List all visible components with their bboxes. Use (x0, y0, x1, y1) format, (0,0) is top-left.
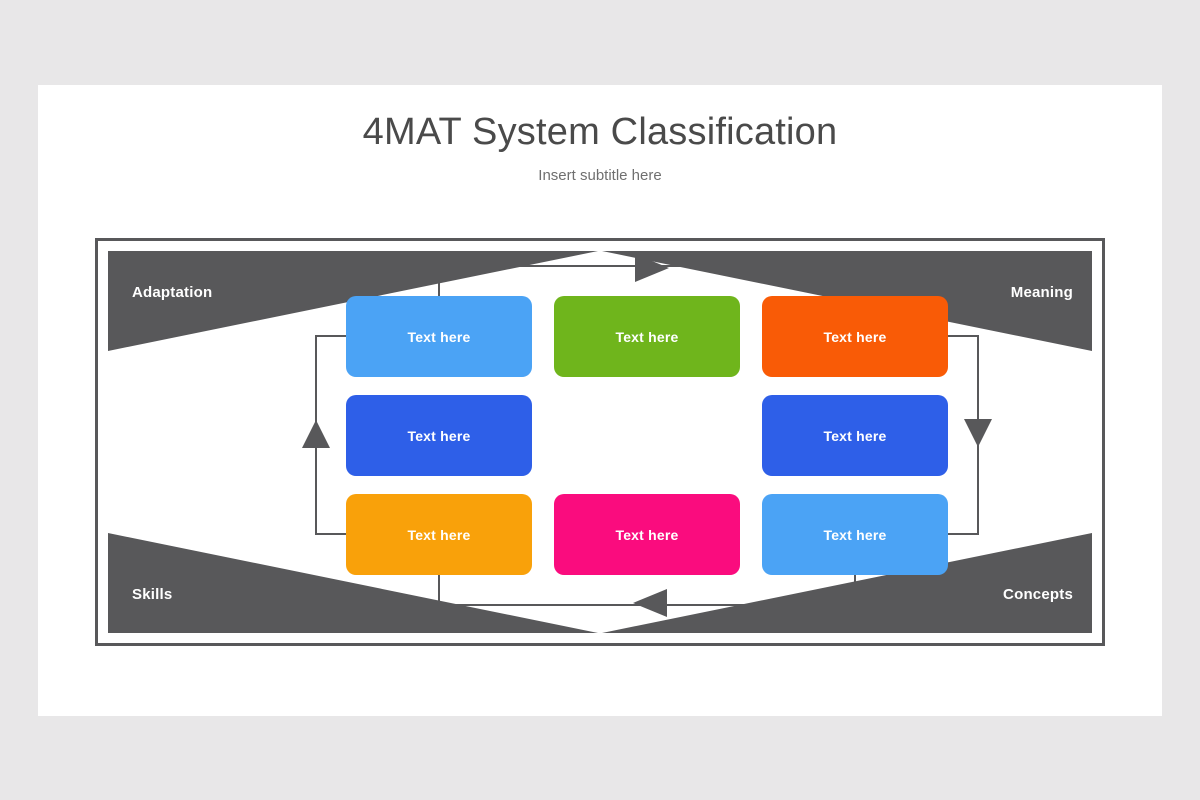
node-label: Text here (823, 428, 886, 444)
node-r3c3[interactable]: Text here (762, 494, 948, 575)
node-r1c1[interactable]: Text here (346, 296, 532, 377)
node-r3c2[interactable]: Text here (554, 494, 740, 575)
arrowhead-down-icon (964, 419, 992, 447)
node-r2c1[interactable]: Text here (346, 395, 532, 476)
slide-canvas: 4MAT System Classification Insert subtit… (38, 85, 1162, 716)
node-label: Text here (615, 527, 678, 543)
arrowhead-right-icon (635, 254, 669, 282)
node-label: Text here (823, 527, 886, 543)
diagram-frame-inner: Adaptation Meaning Skills Concepts (101, 244, 1099, 640)
diagram-frame: Adaptation Meaning Skills Concepts (95, 238, 1105, 646)
page-title: 4MAT System Classification (38, 111, 1162, 154)
page-subtitle: Insert subtitle here (38, 167, 1162, 184)
arrowhead-left-icon (633, 589, 667, 617)
node-r1c3[interactable]: Text here (762, 296, 948, 377)
node-label: Text here (407, 428, 470, 444)
node-label: Text here (615, 329, 678, 345)
node-label: Text here (823, 329, 886, 345)
node-r1c2[interactable]: Text here (554, 296, 740, 377)
arrowhead-up-icon (302, 420, 330, 448)
node-r3c1[interactable]: Text here (346, 494, 532, 575)
node-label: Text here (407, 329, 470, 345)
node-label: Text here (407, 527, 470, 543)
node-r2c3[interactable]: Text here (762, 395, 948, 476)
